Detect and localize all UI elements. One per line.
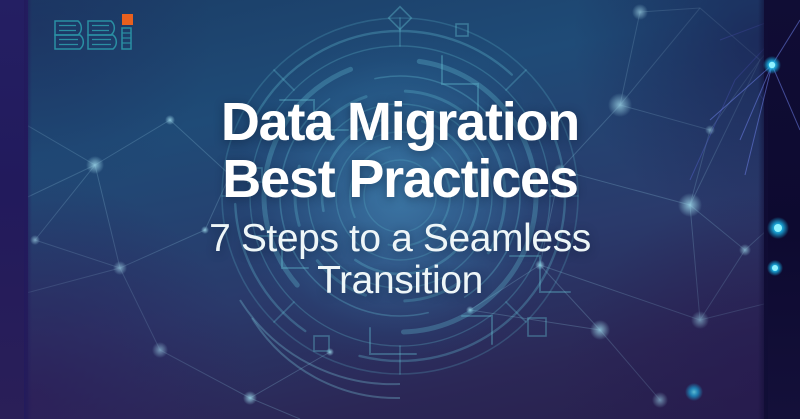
subtitle-line-1: 7 Steps to a Seamless (0, 218, 800, 260)
marketing-banner: Data Migration Best Practices 7 Steps to… (0, 0, 800, 419)
logo-accent-square (122, 14, 133, 25)
banner-text-block: Data Migration Best Practices 7 Steps to… (0, 94, 800, 302)
subtitle-line-2: Transition (0, 260, 800, 302)
page-subtitle: 7 Steps to a Seamless Transition (0, 218, 800, 302)
title-line-1: Data Migration (0, 94, 800, 151)
title-line-2: Best Practices (0, 151, 800, 208)
bbi-logo[interactable] (52, 14, 152, 56)
page-title: Data Migration Best Practices (0, 94, 800, 208)
bbi-outline-logo-icon (52, 14, 152, 56)
